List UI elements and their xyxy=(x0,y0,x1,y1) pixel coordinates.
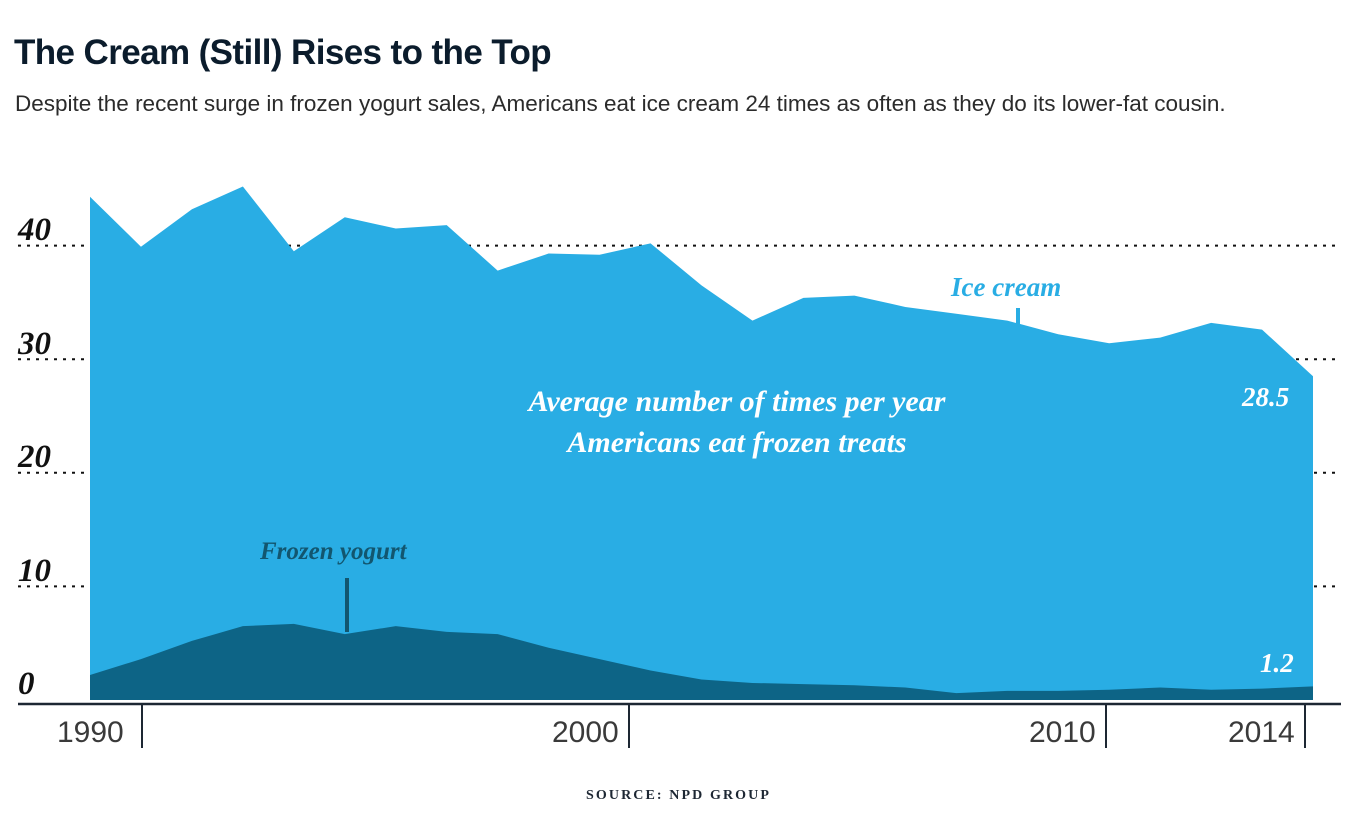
infographic-page: The Cream (Still) Rises to the Top Despi… xyxy=(0,0,1357,814)
y-axis-tick-0: 0 xyxy=(18,668,35,701)
y-axis-tick-10: 10 xyxy=(18,555,51,588)
y-axis-tick-40: 40 xyxy=(18,214,51,247)
series-label-ice-cream: Ice cream xyxy=(951,272,1061,303)
x-axis-tick-1990: 1990 xyxy=(57,718,124,748)
series-label-frozen-yogurt: Frozen yogurt xyxy=(260,538,407,566)
chart-inline-caption-line1: Average number of times per year xyxy=(437,381,1037,422)
x-axis-tick-2014: 2014 xyxy=(1228,718,1295,748)
page-title: The Cream (Still) Rises to the Top xyxy=(14,31,1334,75)
source-note: SOURCE: NPD GROUP xyxy=(0,788,1357,804)
x-axis-tick-2000: 2000 xyxy=(552,718,619,748)
x-axis-tick-2010: 2010 xyxy=(1029,718,1096,748)
y-axis-tick-20: 20 xyxy=(18,441,51,474)
value-label-ice-cream-end: 28.5 xyxy=(1242,382,1289,413)
chart-inline-caption-line2: Americans eat frozen treats xyxy=(437,422,1037,463)
chart-inline-caption: Average number of times per year America… xyxy=(437,381,1037,463)
value-label-frozen-yogurt-end: 1.2 xyxy=(1260,648,1294,679)
area-chart: 40 30 20 10 0 1990 2000 2010 2014 Ice cr… xyxy=(0,160,1357,760)
page-subtitle: Despite the recent surge in frozen yogur… xyxy=(15,89,1345,119)
y-axis-tick-30: 30 xyxy=(18,328,51,361)
